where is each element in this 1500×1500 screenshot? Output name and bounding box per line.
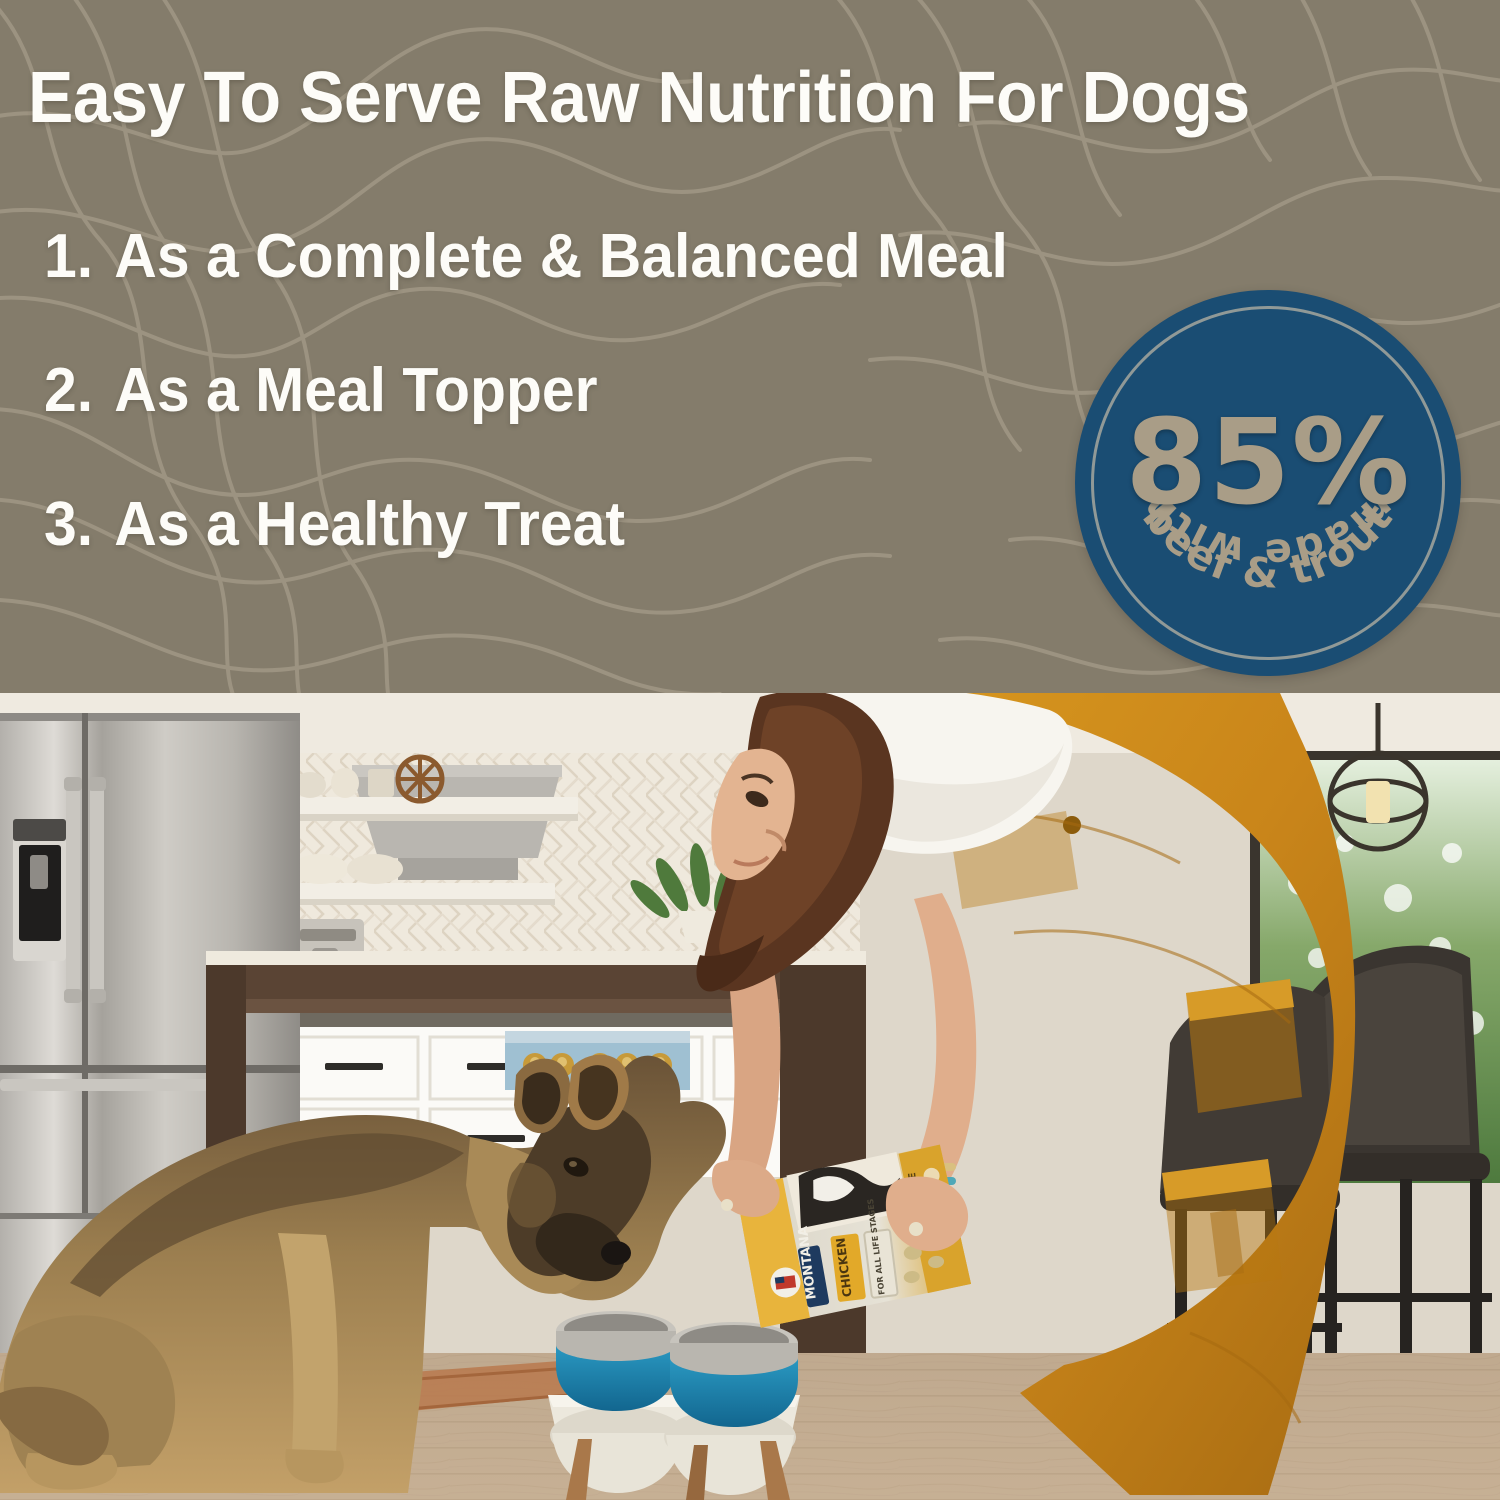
list-item: 3. As a Healthy Treat xyxy=(44,494,1004,556)
list-item-label: As a Healthy Treat xyxy=(114,494,625,556)
promo-image: Easy To Serve Raw Nutrition For Dogs 1. … xyxy=(0,0,1500,1500)
top-info-panel: Easy To Serve Raw Nutrition For Dogs 1. … xyxy=(0,0,1500,693)
list-item-number: 2. xyxy=(44,360,114,422)
made-with-85-percent-badge: made with beef & trout 85% xyxy=(1075,290,1461,676)
list-item-number: 1. xyxy=(44,226,114,288)
list-item-number: 3. xyxy=(44,494,114,556)
badge-percent-value: 85% xyxy=(1075,403,1461,521)
kitchen-feeding-photo: MONTANA CHICKEN FOR ALL LIFE STAGES GRAI… xyxy=(0,693,1500,1500)
list-item: 2. As a Meal Topper xyxy=(44,360,1004,422)
list-item-label: As a Complete & Balanced Meal xyxy=(114,226,1008,288)
usage-steps-list: 1. As a Complete & Balanced Meal 2. As a… xyxy=(44,226,1054,628)
list-item-label: As a Meal Topper xyxy=(114,360,597,422)
page-title: Easy To Serve Raw Nutrition For Dogs xyxy=(28,62,1398,134)
list-item: 1. As a Complete & Balanced Meal xyxy=(44,226,1004,288)
